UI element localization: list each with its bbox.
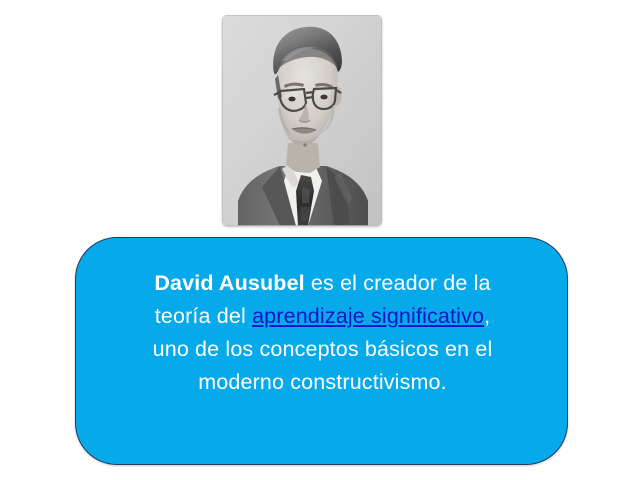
portrait-photo-frame: [222, 15, 382, 226]
callout-text-block: David Ausubel es el creador de la teoría…: [76, 267, 569, 399]
callout-line-2-prefix: teoría del: [155, 304, 252, 328]
callout-line-1: David Ausubel es el creador de la: [76, 267, 569, 300]
callout-line-4: moderno constructivismo.: [76, 366, 569, 399]
callout-line-2-suffix: ,: [484, 304, 490, 328]
callout-line-3: uno de los conceptos básicos en el: [76, 333, 569, 366]
person-name-bold: David Ausubel: [154, 271, 305, 295]
blue-callout-shape: David Ausubel es el creador de la teoría…: [75, 237, 568, 465]
david-ausubel-portrait: [222, 15, 382, 226]
slide-canvas: David Ausubel es el creador de la teoría…: [0, 0, 640, 480]
callout-line-2: teoría del aprendizaje significativo,: [76, 300, 569, 333]
aprendizaje-significativo-link[interactable]: aprendizaje significativo: [252, 304, 484, 328]
callout-line-1-rest: es el creador de la: [305, 271, 491, 295]
